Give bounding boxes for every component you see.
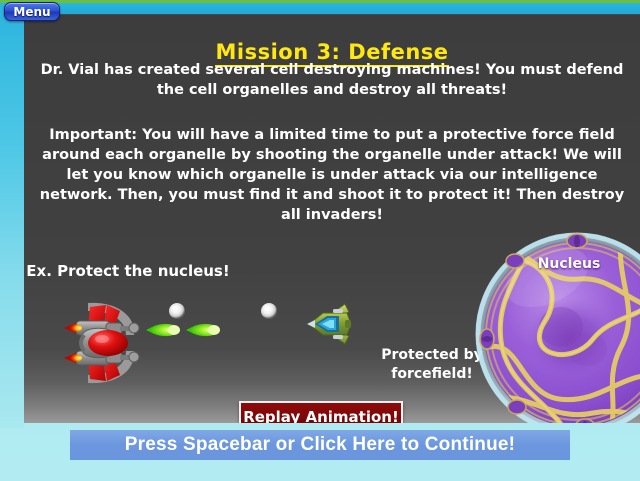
menu-button[interactable]: Menu xyxy=(4,2,60,21)
nucleus-organelle[interactable] xyxy=(475,217,640,423)
player-ship xyxy=(305,300,353,348)
green-plasma-bolt xyxy=(186,322,222,338)
briefing-paragraph-1: Dr. Vial has created several cell destro… xyxy=(32,60,632,100)
continue-button-label: Press Spacebar or Click Here to Continue… xyxy=(125,434,515,456)
briefing-panel: Mission 3: Defense Dr. Vial has created … xyxy=(24,14,640,423)
top-accent-cyan-bar xyxy=(0,3,640,14)
white-energy-orb xyxy=(260,302,278,320)
menu-button-label: Menu xyxy=(13,6,50,18)
briefing-paragraph-2: Important: You will have a limited time … xyxy=(32,125,632,225)
nucleus-label: Nucleus xyxy=(529,256,609,272)
white-energy-orb xyxy=(168,302,186,320)
green-plasma-bolt xyxy=(146,322,182,338)
game-screen: Mission 3: Defense Dr. Vial has created … xyxy=(0,0,640,481)
replay-animation-label: Replay Animation! xyxy=(243,408,399,423)
left-gradient-rail xyxy=(0,3,24,428)
replay-animation-button[interactable]: Replay Animation! xyxy=(239,401,403,423)
continue-button[interactable]: Press Spacebar or Click Here to Continue… xyxy=(70,430,570,460)
protected-by-forcefield-label: Protected by forcefield! xyxy=(372,346,492,384)
enemy-mech-ship xyxy=(62,295,148,391)
example-label: Ex. Protect the nucleus! xyxy=(24,262,238,280)
